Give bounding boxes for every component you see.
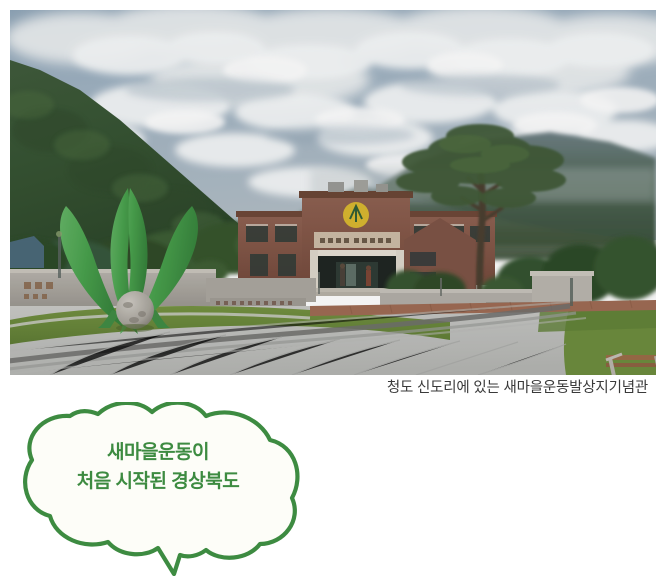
memorial-hall-photo [10,10,656,375]
speech-bubble-shape [8,402,308,576]
photo-caption: 청도 신도리에 있는 새마을운동발상지기념관 [0,378,648,398]
photo-canvas [10,10,656,375]
speech-bubble: 새마을운동이 처음 시작된 경상북도 [8,402,308,576]
